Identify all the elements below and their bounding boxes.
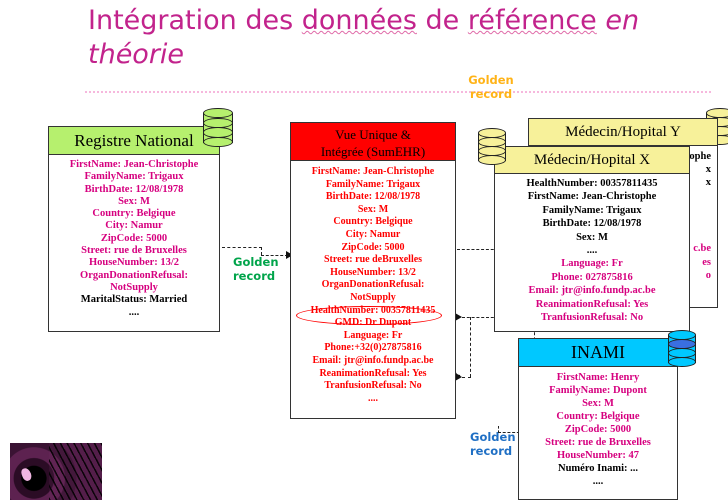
- field-line: BirthDate: 12/08/1978: [52, 184, 216, 196]
- box-vue-unique-integree[interactable]: Vue Unique & Intégrée (SumEHR) FirstName…: [290, 122, 456, 419]
- connector-inami-v1: [470, 317, 471, 377]
- vue-unique-header-line1: Vue Unique &: [291, 126, 455, 143]
- field-line: Email: jtr@info.fundp.ac.be: [498, 284, 686, 297]
- field-line: FamilyName: Trigaux: [52, 171, 216, 183]
- slide-canvas: Intégration des données de référence en …: [0, 0, 728, 500]
- medecin-hopital-x-fields: HealthNumber: 00357811435FirstName: Jean…: [495, 174, 689, 328]
- eye-glint: [20, 467, 33, 482]
- database-cylinder-icon-registre: [203, 108, 233, 148]
- field-line: Sex: M: [294, 204, 452, 217]
- registre-national-fields: FirstName: Jean-ChristopheFamilyName: Tr…: [49, 155, 219, 323]
- connector-registre-to-vue-v: [261, 247, 262, 255]
- vue-unique-header-line2: Intégrée (SumEHR): [291, 143, 455, 160]
- field-line: BirthDate: 12/08/1978: [498, 217, 686, 230]
- field-line: Street: rue de Bruxelles: [522, 436, 674, 449]
- golden-record-left-line2: record: [233, 269, 289, 283]
- field-line: FamilyName: Trigaux: [294, 179, 452, 192]
- field-line: ....: [294, 393, 452, 406]
- field-line: Street: rue deBruxelles: [294, 254, 452, 267]
- connector-arrow-gmd: [455, 313, 462, 321]
- golden-record-left-line1: Golden: [233, 255, 289, 269]
- field-line: Phone:+32(0)27875816: [294, 342, 452, 355]
- field-line: City: Namur: [52, 220, 216, 232]
- field-line: OrganDonationRefusal:: [294, 279, 452, 292]
- eye-lashes: [49, 443, 102, 500]
- field-line: HealthNumber: 00357811435: [294, 305, 452, 318]
- field-line: HouseNumber: 47: [522, 449, 674, 462]
- field-line: HouseNumber: 13/2: [52, 257, 216, 269]
- field-line: ZipCode: 5000: [52, 233, 216, 245]
- registre-national-header: Registre National: [49, 127, 219, 155]
- title-part-1: Intégration des: [88, 5, 302, 36]
- title-underlined-donnees: données: [302, 5, 417, 36]
- field-line: ReanimationRefusal: Yes: [498, 298, 686, 311]
- field-line: TranfusionRefusal: No: [294, 380, 452, 393]
- field-line: FirstName: Jean-Christophe: [498, 190, 686, 203]
- title-italic-en: en: [597, 5, 639, 36]
- title-divider: [85, 91, 711, 93]
- field-line: ....: [52, 307, 216, 319]
- field-line: Language: Fr: [294, 330, 452, 343]
- page-title: Intégration des données de référence en …: [88, 4, 716, 72]
- box-registre-national[interactable]: Registre National FirstName: Jean-Christ…: [48, 126, 220, 332]
- eye-image: [10, 443, 102, 500]
- field-line: Country: Belgique: [294, 216, 452, 229]
- field-line: NotSupply: [52, 282, 216, 294]
- vue-unique-header: Vue Unique & Intégrée (SumEHR): [291, 123, 455, 161]
- field-line: TranfusionRefusal: No: [498, 311, 686, 324]
- medecin-hopital-x-header: Médecin/Hopital X: [495, 147, 689, 174]
- field-line: Phone: 027875816: [498, 271, 686, 284]
- field-line: Country: Belgique: [52, 208, 216, 220]
- field-line: ....: [522, 475, 674, 488]
- golden-record-label-top: Golden record: [464, 73, 518, 101]
- vue-unique-fields: FirstName: Jean-ChristopheFamilyName: Tr…: [291, 161, 455, 409]
- field-line: FirstName: Henry: [522, 371, 674, 384]
- field-line: Language: Fr: [498, 257, 686, 270]
- field-line: FirstName: Jean-Christophe: [294, 166, 452, 179]
- field-line: ....: [498, 244, 686, 257]
- title-part-2: de: [417, 5, 468, 36]
- field-line: OrganDonationRefusal:: [52, 270, 216, 282]
- inami-header: INAMI: [519, 339, 677, 367]
- field-line: ReanimationRefusal: Yes: [294, 368, 452, 381]
- connector-inami-v3: [498, 426, 499, 433]
- field-line: GMD: Dr Dupont: [294, 317, 452, 330]
- golden-record-top-line1: Golden: [464, 73, 518, 87]
- field-line: BirthDate: 12/08/1978: [294, 191, 452, 204]
- box-inami[interactable]: INAMI FirstName: HenryFamilyName: Dupont…: [518, 338, 678, 500]
- field-line: MaritalStatus: Married: [52, 294, 216, 306]
- field-line: FirstName: Jean-Christophe: [52, 159, 216, 171]
- field-line: Sex: M: [522, 397, 674, 410]
- field-line: FamilyName: Dupont: [522, 384, 674, 397]
- golden-record-label-left: Golden record: [233, 255, 289, 283]
- title-underlined-reference: référence: [468, 5, 597, 36]
- field-line: Sex: M: [498, 231, 686, 244]
- field-line: Street: rue de Bruxelles: [52, 245, 216, 257]
- field-line: FamilyName: Trigaux: [498, 204, 686, 217]
- medecin-hopital-y-header: Médecin/Hopital Y: [529, 119, 717, 146]
- field-line: HealthNumber: 00357811435: [498, 177, 686, 190]
- field-line: ZipCode: 5000: [522, 423, 674, 436]
- field-line: NotSupply: [294, 292, 452, 305]
- golden-record-top-line2: record: [464, 87, 518, 101]
- field-line: City: Namur: [294, 229, 452, 242]
- field-line: Email: jtr@info.fundp.ac.be: [294, 355, 452, 368]
- field-line: ZipCode: 5000: [294, 242, 452, 255]
- box-medecin-hopital-x[interactable]: Médecin/Hopital X HealthNumber: 00357811…: [494, 146, 690, 332]
- database-cylinder-icon-hopital-x: [478, 128, 506, 166]
- field-line: Numéro Inami: ...: [522, 462, 674, 475]
- title-italic-theorie: théorie: [88, 39, 184, 70]
- field-line: Country: Belgique: [522, 410, 674, 423]
- connector-registre-to-vue-h1: [222, 247, 262, 248]
- database-cylinder-icon-inami: [668, 330, 696, 368]
- field-line: Sex: M: [52, 196, 216, 208]
- field-line: HouseNumber: 13/2: [294, 267, 452, 280]
- inami-fields: FirstName: HenryFamilyName: DupontSex: M…: [519, 367, 677, 492]
